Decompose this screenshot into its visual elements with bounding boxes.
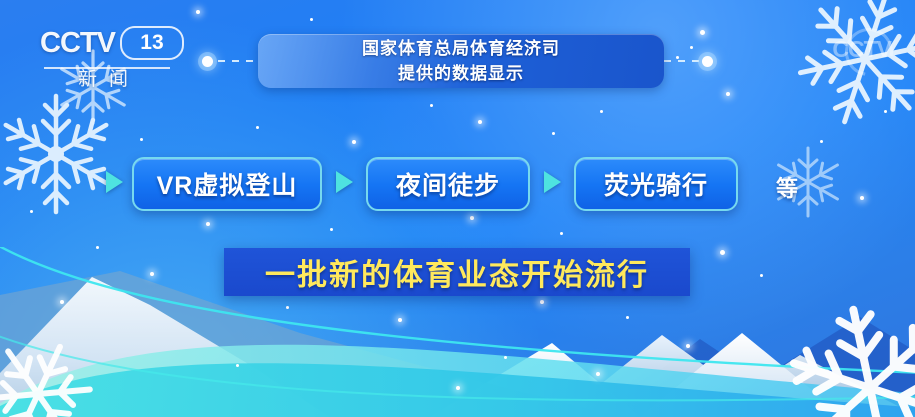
snow-particle bbox=[884, 110, 887, 113]
snow-particle bbox=[686, 344, 690, 348]
connector-dash-right bbox=[664, 60, 700, 62]
snow-particle bbox=[690, 46, 693, 49]
snow-particle bbox=[30, 210, 33, 213]
snow-particle bbox=[478, 120, 482, 124]
snow-particle bbox=[470, 216, 474, 220]
activity-pill-3-label: 荧光骑行 bbox=[604, 166, 708, 202]
snow-particle bbox=[206, 222, 210, 226]
snow-particle bbox=[456, 386, 460, 390]
snowflake-icon-bottomleft bbox=[0, 336, 106, 417]
activity-pill-row: VR虚拟登山 夜间徒步 荧光骑行 等 bbox=[104, 157, 864, 211]
headline-band: 一批新的体育业态开始流行 bbox=[224, 248, 690, 296]
snow-particle bbox=[352, 140, 356, 144]
snow-particle bbox=[150, 272, 154, 276]
activity-pill-1-label: VR虚拟登山 bbox=[157, 166, 298, 202]
arrow-right-icon-3 bbox=[544, 171, 561, 193]
snow-particle bbox=[256, 126, 259, 129]
snow-particle bbox=[726, 92, 730, 96]
broadcast-graphic: CCTV 13 新闻 CCTV 国家体育总局体育经济司 提供的数据显示 VR虚拟… bbox=[0, 0, 915, 417]
activity-pill-3[interactable]: 荧光骑行 bbox=[574, 157, 738, 211]
snow-particle bbox=[540, 300, 544, 304]
snow-particle bbox=[286, 306, 289, 309]
activity-pill-2[interactable]: 夜间徒步 bbox=[366, 157, 530, 211]
snow-particle bbox=[720, 250, 725, 255]
cctv-watermark: CCTV bbox=[832, 36, 891, 63]
channel-logo: CCTV 13 新闻 bbox=[40, 26, 200, 92]
snow-particle bbox=[760, 274, 763, 277]
snow-particle bbox=[96, 246, 99, 249]
snow-particle bbox=[330, 228, 333, 231]
snow-particle bbox=[140, 138, 143, 141]
arrow-right-icon-1 bbox=[106, 171, 123, 193]
snowflake-icon-bottomright bbox=[770, 300, 915, 417]
snow-particle bbox=[560, 232, 563, 235]
snow-particle bbox=[600, 110, 603, 113]
snow-particle bbox=[236, 364, 239, 367]
snow-particle bbox=[676, 56, 679, 59]
snow-particle bbox=[196, 10, 200, 14]
channel-number-badge: 13 bbox=[120, 26, 184, 60]
cctv-wordmark: CCTV bbox=[40, 27, 115, 60]
headline-text: 一批新的体育业态开始流行 bbox=[265, 250, 649, 294]
activity-pill-1[interactable]: VR虚拟登山 bbox=[132, 157, 322, 211]
snow-particle bbox=[596, 372, 600, 376]
arrow-right-icon-2 bbox=[336, 171, 353, 193]
banner-line-2: 提供的数据显示 bbox=[398, 61, 524, 86]
snow-particle bbox=[700, 30, 705, 35]
logo-row: CCTV 13 bbox=[40, 26, 200, 60]
activity-pill-2-label: 夜间徒步 bbox=[396, 166, 500, 202]
connector-node-left bbox=[202, 56, 213, 67]
snow-particle bbox=[820, 140, 823, 143]
banner-line-1: 国家体育总局体育经济司 bbox=[362, 36, 560, 61]
connector-dash-left bbox=[218, 60, 260, 62]
connector-node-right bbox=[702, 56, 713, 67]
snow-particle bbox=[552, 132, 555, 135]
snow-particle bbox=[504, 356, 507, 359]
snow-particle bbox=[626, 316, 629, 319]
source-banner: 国家体育总局体育经济司 提供的数据显示 bbox=[258, 34, 664, 88]
snow-particle bbox=[310, 18, 313, 21]
snow-particle bbox=[430, 104, 433, 107]
logo-underline bbox=[44, 67, 170, 69]
snow-particle bbox=[60, 300, 64, 304]
snow-particle bbox=[398, 318, 402, 322]
suffix-label: 等 bbox=[776, 171, 798, 203]
